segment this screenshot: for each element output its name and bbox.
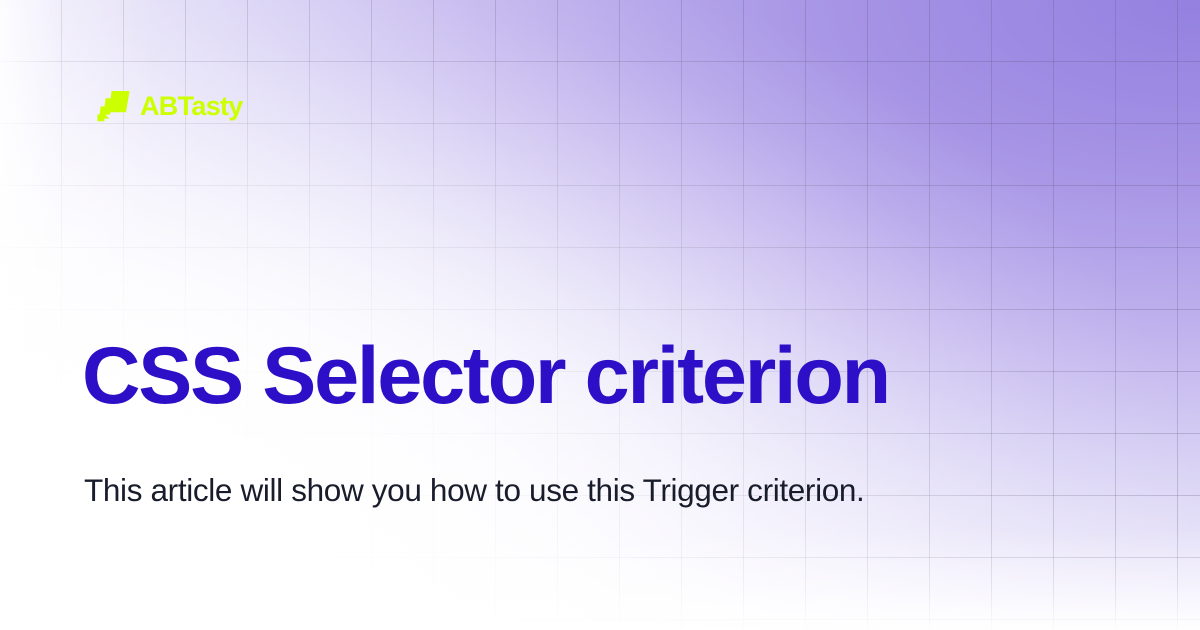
og-card-banner: ABTasty CSS Selector criterion This arti… bbox=[0, 0, 1200, 630]
abtasty-logo[interactable]: ABTasty bbox=[96, 86, 243, 126]
abtasty-flag-icon bbox=[96, 88, 136, 124]
card-content: ABTasty CSS Selector criterion This arti… bbox=[0, 0, 1200, 630]
abtasty-wordmark: ABTasty bbox=[140, 93, 243, 120]
page-title: CSS Selector criterion bbox=[82, 334, 1092, 420]
page-subtitle: This article will show you how to use th… bbox=[84, 468, 874, 513]
